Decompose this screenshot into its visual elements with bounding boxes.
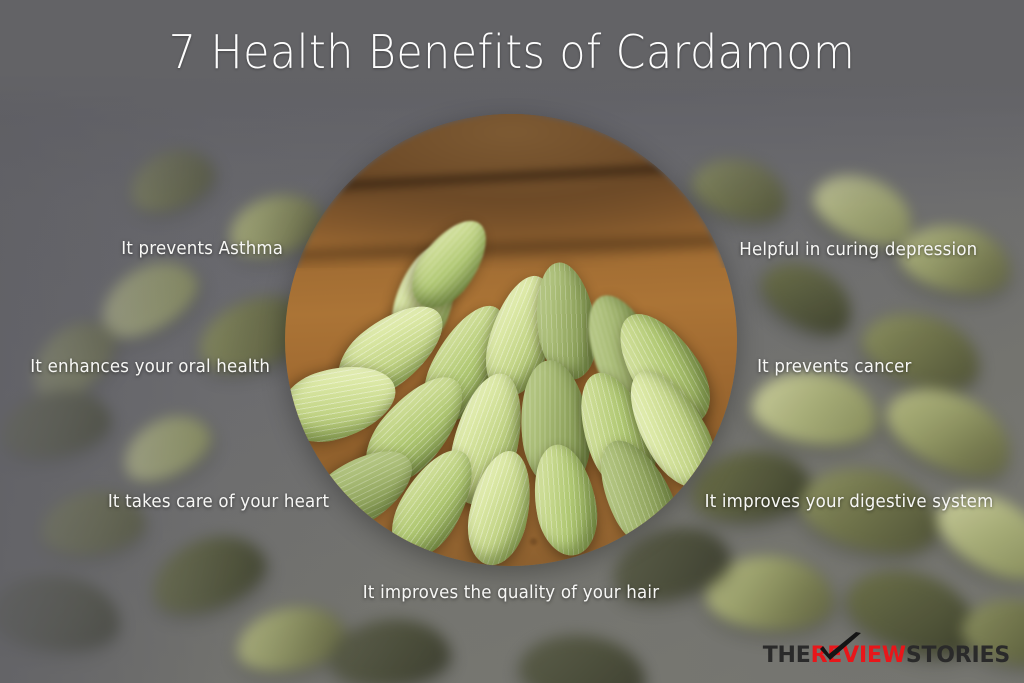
- page-title: 7 Health Benefits of Cardamom: [36, 25, 988, 79]
- logo-text-review: REVIEW: [811, 643, 906, 668]
- benefit-label-digestive-system: It improves your digestive system: [705, 492, 994, 512]
- logo-text-stories: STORIES: [906, 643, 1010, 668]
- infographic-poster: 7 Health Benefits of Cardamom It prevent…: [0, 0, 1024, 683]
- benefit-label-heart: It takes care of your heart: [108, 492, 329, 512]
- benefit-label-hair: It improves the quality of your hair: [363, 583, 659, 603]
- benefit-label-asthma: It prevents Asthma: [121, 239, 283, 259]
- cardamom-photo-circle: [285, 114, 737, 566]
- benefit-label-depression: Helpful in curing depression: [739, 240, 977, 260]
- brand-logo[interactable]: THEREVIEWSTORIES: [763, 645, 1010, 667]
- photo-depth-blur: [285, 114, 737, 268]
- benefit-label-oral-health: It enhances your oral health: [30, 357, 270, 377]
- benefit-label-cancer: It prevents cancer: [757, 357, 912, 377]
- logo-text-the: THE: [763, 643, 811, 668]
